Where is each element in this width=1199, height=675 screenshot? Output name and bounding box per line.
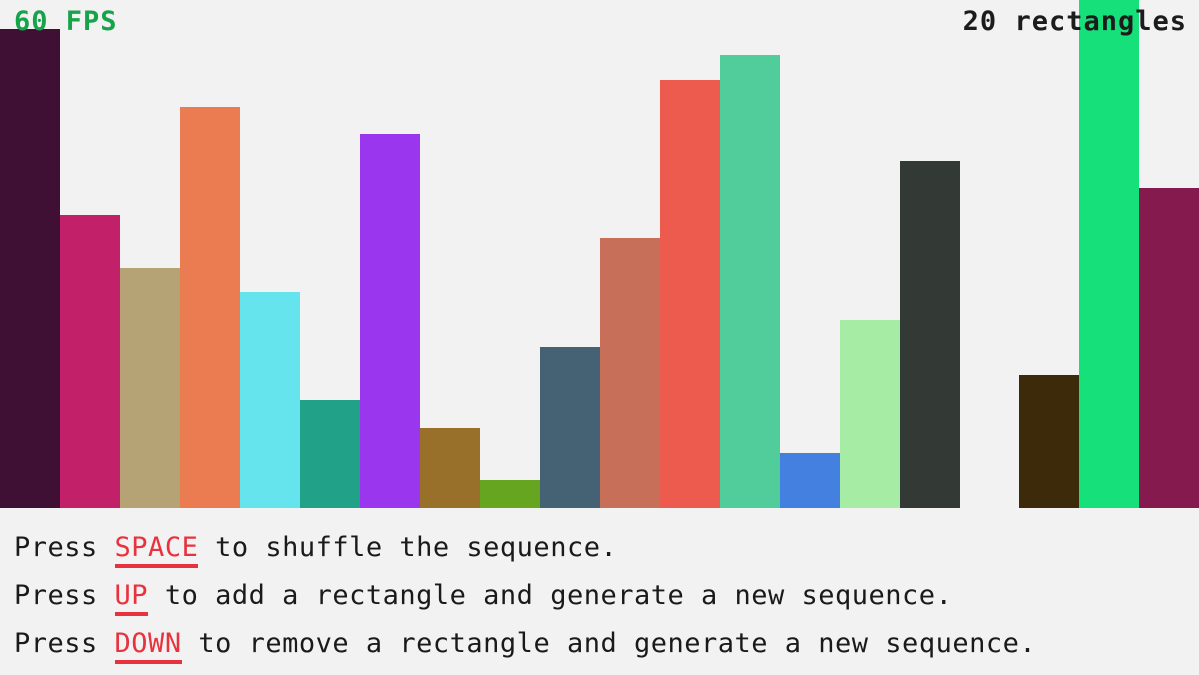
bar-16 [900,161,960,508]
bar-3 [120,268,180,508]
key-space[interactable]: SPACE [115,532,199,568]
instruction-line-3: Press DOWN to remove a rectangle and gen… [14,620,1199,668]
bar-5 [240,292,300,508]
instructions-panel: Press SPACE to shuffle the sequence.Pres… [0,508,1199,675]
bar-6 [300,400,360,508]
key-up[interactable]: UP [115,580,149,616]
bar-4 [180,107,240,508]
bar-chart [0,0,1199,508]
bar-8 [420,428,480,508]
instruction-prefix: Press [14,580,115,611]
bar-13 [720,55,780,508]
key-down[interactable]: DOWN [115,628,182,664]
instruction-suffix: to shuffle the sequence. [198,532,617,563]
instruction-suffix: to add a rectangle and generate a new se… [148,580,952,611]
instruction-prefix: Press [14,628,115,659]
instruction-prefix: Press [14,532,115,563]
bar-10 [540,347,600,508]
bar-15 [840,320,900,508]
bar-12 [660,80,720,508]
bar-9 [480,480,540,508]
fps-counter: 60 FPS [14,8,118,35]
bar-1 [0,29,60,508]
bar-19 [1079,0,1139,508]
instruction-line-2: Press UP to add a rectangle and generate… [14,572,1199,620]
bar-2 [60,215,120,508]
bar-7 [360,134,420,508]
bar-20 [1139,188,1199,508]
instruction-line-1: Press SPACE to shuffle the sequence. [14,524,1199,572]
bar-14 [780,453,840,508]
instruction-suffix: to remove a rectangle and generate a new… [182,628,1037,659]
bar-18 [1019,375,1079,508]
rectangle-count-label: 20 rectangles [963,8,1187,35]
app-root: 60 FPS 20 rectangles Press SPACE to shuf… [0,0,1199,675]
bar-11 [600,238,660,508]
